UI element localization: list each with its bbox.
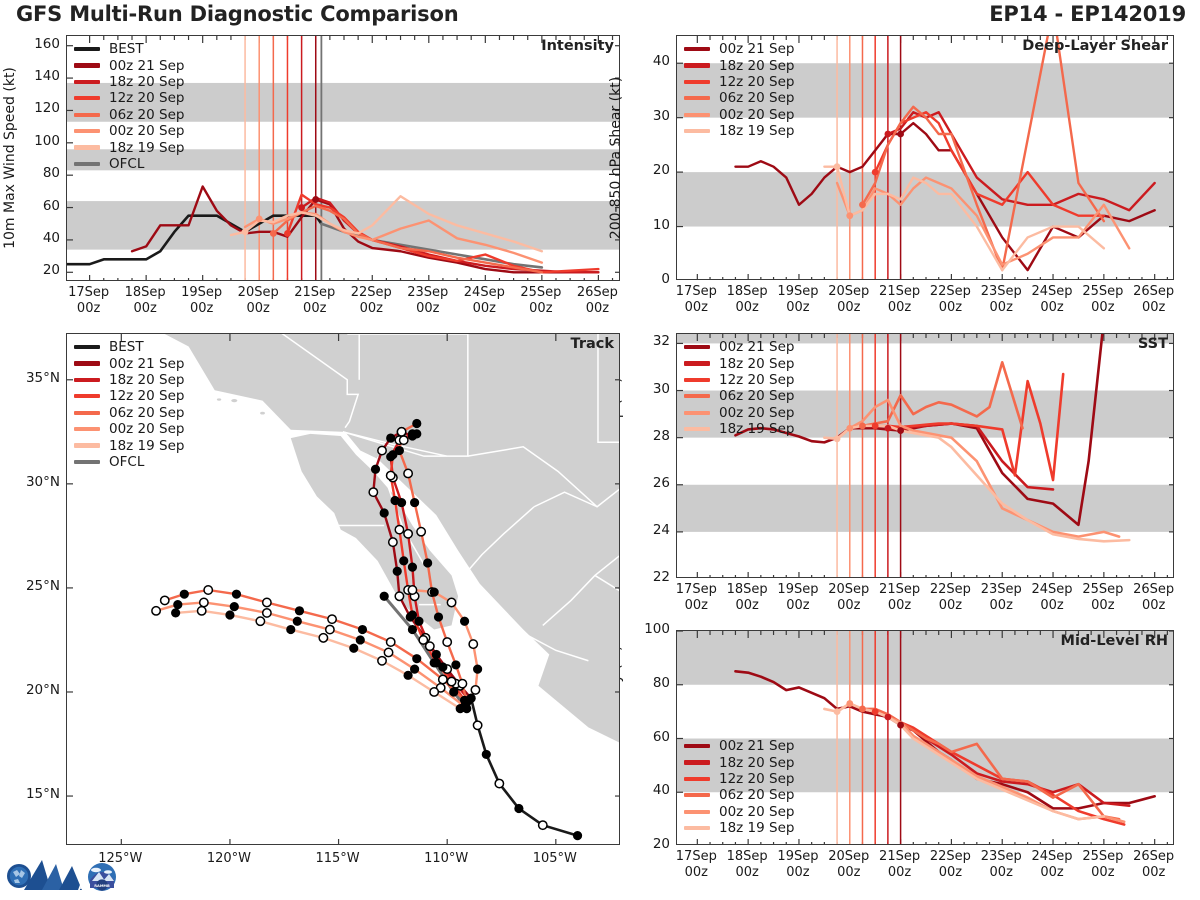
track-point-marker xyxy=(319,634,327,642)
x-tick-hour: 00z xyxy=(285,301,345,317)
track-point-marker xyxy=(452,661,460,669)
init-marker xyxy=(834,435,841,442)
x-tick-date: 26Sep xyxy=(1124,284,1184,300)
legend-label: 06z 20 Sep xyxy=(109,107,184,123)
init-marker xyxy=(872,169,879,176)
legend-swatch xyxy=(74,129,100,133)
x-tick-label: 26Sep00z xyxy=(567,285,627,317)
legend-item[interactable]: 18z 19 Sep xyxy=(684,123,794,139)
panel-sst: SST00z 21 Sep18z 20 Sep12z 20 Sep06z 20 … xyxy=(676,333,1174,578)
track-point-marker xyxy=(473,721,481,729)
legend-track: BEST00z 21 Sep18z 20 Sep12z 20 Sep06z 20… xyxy=(74,339,184,470)
track-point-marker xyxy=(404,530,412,538)
x-tick-date: 26Sep xyxy=(1124,849,1184,865)
track-point-marker xyxy=(391,496,399,504)
track-point-marker xyxy=(395,592,403,600)
legend-swatch xyxy=(684,411,710,415)
init-marker xyxy=(884,425,891,432)
legend-swatch xyxy=(684,378,710,382)
track-point-marker xyxy=(473,665,481,673)
y-tick-label: 80 xyxy=(632,675,670,691)
legend-item[interactable]: 00z 20 Sep xyxy=(74,123,184,139)
x-tick-date: 25Sep xyxy=(511,285,571,301)
legend-label: 12z 20 Sep xyxy=(109,388,184,404)
panel-title-shear: Deep-Layer Shear xyxy=(1022,38,1168,54)
x-tick-label: 18Sep00z xyxy=(115,285,175,317)
legend-item[interactable]: 18z 19 Sep xyxy=(684,820,794,836)
legend-swatch xyxy=(684,345,710,349)
panel-title-track: Track xyxy=(571,336,614,352)
x-tick-label: 17Sep00z xyxy=(59,285,119,317)
legend-item[interactable]: 18z 19 Sep xyxy=(74,437,184,453)
y-tick-label: 22 xyxy=(632,569,670,585)
track-point-marker xyxy=(378,446,386,454)
y-tick-label: 20 xyxy=(632,836,670,852)
legend-label: 18z 20 Sep xyxy=(719,356,794,372)
track-point-marker xyxy=(430,688,438,696)
y-tick-label: 100 xyxy=(632,621,670,637)
legend-label: 18z 19 Sep xyxy=(109,140,184,156)
track-point-marker xyxy=(471,686,479,694)
init-marker xyxy=(897,722,904,729)
legend-swatch xyxy=(684,744,710,748)
legend-swatch xyxy=(74,345,100,349)
y-tick-label: 32 xyxy=(632,333,670,349)
track-point-marker xyxy=(413,419,421,427)
track-point-marker xyxy=(410,665,418,673)
legend-swatch xyxy=(74,443,100,447)
legend-item[interactable]: OFCL xyxy=(74,454,184,470)
init-marker xyxy=(859,422,866,429)
x-tick-date: 22Sep xyxy=(341,285,401,301)
x-tick-label: 19Sep00z xyxy=(172,285,232,317)
legend-item[interactable]: 12z 20 Sep xyxy=(684,771,794,787)
legend-swatch xyxy=(74,394,100,398)
legend-swatch xyxy=(684,793,710,797)
legend-item[interactable]: 12z 20 Sep xyxy=(684,372,794,388)
track-point-marker xyxy=(356,636,364,644)
cira-logo: A RAMMB xyxy=(4,850,128,896)
x-tick-hour: 00z xyxy=(341,301,401,317)
y-tick-label: 160 xyxy=(22,36,60,52)
legend-swatch xyxy=(74,427,100,431)
x-tick-date: 26Sep xyxy=(567,285,627,301)
legend-sst: 00z 21 Sep18z 20 Sep12z 20 Sep06z 20 Sep… xyxy=(684,339,794,437)
track-point-marker xyxy=(369,488,377,496)
legend-item[interactable]: 18z 20 Sep xyxy=(684,355,794,371)
lon-tick-label: 115°W xyxy=(303,851,373,867)
x-tick-label: 26Sep00z xyxy=(1124,284,1184,316)
legend-item[interactable]: 06z 20 Sep xyxy=(684,787,794,803)
lon-tick-label: 110°W xyxy=(411,851,481,867)
x-tick-date: 20Sep xyxy=(228,285,288,301)
legend-label: 00z 21 Sep xyxy=(719,339,794,355)
init-marker xyxy=(846,425,853,432)
rammb-logo-text: RAMMB xyxy=(94,884,110,888)
track-point-marker xyxy=(384,648,392,656)
track-point-marker xyxy=(256,617,264,625)
init-marker xyxy=(897,427,904,434)
lon-tick-label: 120°W xyxy=(194,851,264,867)
track-point-marker xyxy=(226,611,234,619)
track-point-marker xyxy=(432,659,440,667)
track-point-marker xyxy=(295,607,303,615)
legend-swatch xyxy=(74,63,100,67)
track-point-marker xyxy=(458,679,466,687)
y-tick-label: 24 xyxy=(632,522,670,538)
track-point-marker xyxy=(197,607,205,615)
track-point-marker xyxy=(263,598,271,606)
track-point-marker xyxy=(573,831,581,839)
legend-item[interactable]: 00z 21 Sep xyxy=(684,339,794,355)
legend-label: 18z 20 Sep xyxy=(719,58,794,74)
legend-swatch xyxy=(684,361,710,365)
track-point-marker xyxy=(410,498,418,506)
legend-item[interactable]: 12z 20 Sep xyxy=(74,388,184,404)
x-tick-label: 21Sep00z xyxy=(285,285,345,317)
track-point-marker xyxy=(180,590,188,598)
init-marker xyxy=(270,230,277,237)
x-tick-hour: 00z xyxy=(1124,598,1184,614)
track-point-marker xyxy=(469,640,477,648)
track-point-marker xyxy=(430,588,438,596)
x-tick-label: 26Sep00z xyxy=(1124,582,1184,614)
legend-label: 18z 19 Sep xyxy=(719,421,794,437)
legend-label: 00z 21 Sep xyxy=(109,58,184,74)
init-marker xyxy=(298,204,305,211)
legend-label: 06z 20 Sep xyxy=(719,388,794,404)
legend-swatch xyxy=(684,63,710,67)
legend-swatch xyxy=(74,361,100,365)
track-point-marker xyxy=(408,563,416,571)
legend-label: 00z 21 Sep xyxy=(719,738,794,754)
page-title: GFS Multi-Run Diagnostic Comparison xyxy=(16,2,458,26)
legend-swatch xyxy=(74,411,100,415)
legend-label: 18z 20 Sep xyxy=(109,74,184,90)
legend-intensity: BEST00z 21 Sep18z 20 Sep12z 20 Sep06z 20… xyxy=(74,41,184,172)
x-tick-hour: 00z xyxy=(511,301,571,317)
y-tick-label: 60 xyxy=(22,198,60,214)
init-marker xyxy=(834,708,841,715)
track-point-marker xyxy=(293,617,301,625)
legend-item[interactable]: 00z 20 Sep xyxy=(684,405,794,421)
track-point-marker xyxy=(432,650,440,658)
y-tick-label: 120 xyxy=(22,100,60,116)
init-marker xyxy=(859,706,866,713)
legend-item[interactable]: 06z 20 Sep xyxy=(684,388,794,404)
legend-label: OFCL xyxy=(109,156,144,172)
y-tick-label: 20 xyxy=(22,262,60,278)
y-tick-label: 80 xyxy=(22,165,60,181)
track-point-marker xyxy=(413,654,421,662)
x-tick-hour: 00z xyxy=(1124,865,1184,881)
init-marker xyxy=(859,201,866,208)
x-tick-label: 20Sep00z xyxy=(228,285,288,317)
y-tick-label: 26 xyxy=(632,475,670,491)
track-point-marker xyxy=(413,430,421,438)
legend-item[interactable]: 18z 20 Sep xyxy=(74,372,184,388)
legend-label: 06z 20 Sep xyxy=(719,787,794,803)
legend-swatch xyxy=(74,162,100,166)
track-point-marker xyxy=(415,617,423,625)
track-point-marker xyxy=(161,596,169,604)
legend-label: 00z 20 Sep xyxy=(719,804,794,820)
init-marker xyxy=(312,196,319,203)
y-tick-label: 40 xyxy=(22,230,60,246)
init-marker xyxy=(846,700,853,707)
init-marker xyxy=(884,714,891,721)
legend-label: BEST xyxy=(109,41,144,57)
legend-label: 12z 20 Sep xyxy=(719,771,794,787)
panel-rh: Mid-Level RH00z 21 Sep18z 20 Sep12z 20 S… xyxy=(676,630,1174,845)
lat-tick-label: 25°N xyxy=(4,578,60,594)
legend-item[interactable]: 18z 19 Sep xyxy=(684,421,794,437)
init-marker xyxy=(872,708,879,715)
track-point-marker xyxy=(400,436,408,444)
track-point-marker xyxy=(456,704,464,712)
legend-item[interactable]: 18z 20 Sep xyxy=(684,754,794,770)
track-point-marker xyxy=(263,609,271,617)
track-point-marker xyxy=(389,538,397,546)
legend-swatch xyxy=(684,113,710,117)
track-point-marker xyxy=(393,567,401,575)
legend-item[interactable]: 18z 20 Sep xyxy=(74,74,184,90)
track-point-marker xyxy=(350,644,358,652)
panel-title-intensity: Intensity xyxy=(541,38,614,54)
legend-item[interactable]: OFCL xyxy=(74,156,184,172)
legend-label: OFCL xyxy=(109,454,144,470)
track-point-marker xyxy=(482,750,490,758)
legend-item[interactable]: BEST xyxy=(74,339,184,355)
legend-item[interactable]: 00z 21 Sep xyxy=(74,355,184,371)
y-tick-label: 100 xyxy=(22,133,60,149)
legend-label: 18z 19 Sep xyxy=(719,820,794,836)
legend-swatch xyxy=(684,96,710,100)
legend-swatch xyxy=(684,80,710,84)
y-tick-label: 30 xyxy=(632,108,670,124)
legend-item[interactable]: 06z 20 Sep xyxy=(74,107,184,123)
x-tick-hour: 00z xyxy=(228,301,288,317)
x-tick-hour: 00z xyxy=(567,301,627,317)
legend-swatch xyxy=(684,777,710,781)
track-point-marker xyxy=(515,804,523,812)
legend-item[interactable]: 00z 21 Sep xyxy=(74,57,184,73)
legend-item[interactable]: 00z 21 Sep xyxy=(684,738,794,754)
legend-label: 00z 21 Sep xyxy=(109,356,184,372)
legend-swatch xyxy=(74,47,100,51)
legend-swatch xyxy=(684,760,710,764)
init-marker xyxy=(834,163,841,170)
legend-item[interactable]: 00z 20 Sep xyxy=(74,421,184,437)
x-tick-hour: 00z xyxy=(1124,300,1184,316)
x-tick-hour: 00z xyxy=(398,301,458,317)
track-point-marker xyxy=(400,557,408,565)
storm-id-title: EP14 - EP142019 xyxy=(989,2,1186,26)
legend-swatch xyxy=(684,394,710,398)
track-point-marker xyxy=(328,615,336,623)
legend-swatch xyxy=(684,826,710,830)
track-point-marker xyxy=(326,625,334,633)
init-marker xyxy=(872,422,879,429)
track-point-marker xyxy=(387,434,395,442)
y-tick-label: 40 xyxy=(632,782,670,798)
track-point-marker xyxy=(204,586,212,594)
track-point-marker xyxy=(287,625,295,633)
legend-label: 18z 19 Sep xyxy=(719,123,794,139)
y-tick-label: 60 xyxy=(632,729,670,745)
x-tick-date: 17Sep xyxy=(59,285,119,301)
track-point-marker xyxy=(358,625,366,633)
legend-swatch xyxy=(74,460,100,464)
x-tick-label: 23Sep00z xyxy=(398,285,458,317)
init-marker xyxy=(284,230,291,237)
track-point-marker xyxy=(419,636,427,644)
init-marker xyxy=(256,215,263,222)
legend-swatch xyxy=(684,810,710,814)
legend-label: 00z 21 Sep xyxy=(719,41,794,57)
x-tick-date: 24Sep xyxy=(454,285,514,301)
svg-text:A: A xyxy=(78,883,85,893)
legend-swatch xyxy=(74,145,100,149)
legend-label: 00z 20 Sep xyxy=(719,107,794,123)
track-point-marker xyxy=(232,590,240,598)
y-tick-label: 140 xyxy=(22,68,60,84)
init-marker xyxy=(884,131,891,138)
panel-track: TrackBEST00z 21 Sep18z 20 Sep12z 20 Sep0… xyxy=(66,333,620,845)
track-point-marker xyxy=(200,598,208,606)
track-point-marker xyxy=(447,677,455,685)
track-point-marker xyxy=(417,528,425,536)
legend-label: 00z 20 Sep xyxy=(719,405,794,421)
legend-label: 18z 20 Sep xyxy=(719,755,794,771)
x-tick-date: 21Sep xyxy=(285,285,345,301)
y-tick-label: 0 xyxy=(632,271,670,287)
legend-swatch xyxy=(684,47,710,51)
track-point-marker xyxy=(539,821,547,829)
legend-swatch xyxy=(74,378,100,382)
track-point-marker xyxy=(387,471,395,479)
track-point-marker xyxy=(371,465,379,473)
track-point-marker xyxy=(395,446,403,454)
panel-intensity: IntensityBEST00z 21 Sep18z 20 Sep12z 20 … xyxy=(66,35,620,281)
x-tick-label: 24Sep00z xyxy=(454,285,514,317)
lat-tick-label: 35°N xyxy=(4,370,60,386)
legend-label: 12z 20 Sep xyxy=(109,90,184,106)
legend-label: 06z 20 Sep xyxy=(719,90,794,106)
x-tick-label: 22Sep00z xyxy=(341,285,401,317)
x-tick-label: 25Sep00z xyxy=(511,285,571,317)
track-point-marker xyxy=(447,598,455,606)
x-tick-date: 26Sep xyxy=(1124,582,1184,598)
legend-label: BEST xyxy=(109,339,144,355)
y-axis-label-shear: 200-850 hPa Shear (kt) xyxy=(608,76,624,238)
panel-title-sst: SST xyxy=(1138,336,1168,352)
legend-swatch xyxy=(684,427,710,431)
track-point-marker xyxy=(439,675,447,683)
legend-swatch xyxy=(74,96,100,100)
track-point-marker xyxy=(434,613,442,621)
legend-swatch xyxy=(74,80,100,84)
legend-label: 00z 20 Sep xyxy=(109,123,184,139)
track-point-marker xyxy=(408,625,416,633)
legend-item[interactable]: BEST xyxy=(74,41,184,57)
y-tick-label: 10 xyxy=(632,217,670,233)
legend-swatch xyxy=(684,129,710,133)
x-tick-date: 19Sep xyxy=(172,285,232,301)
legend-label: 00z 20 Sep xyxy=(109,421,184,437)
track-point-marker xyxy=(174,600,182,608)
track-point-marker xyxy=(152,607,160,615)
legend-item[interactable]: 00z 21 Sep xyxy=(684,41,794,57)
x-tick-hour: 00z xyxy=(454,301,514,317)
track-point-marker xyxy=(408,611,416,619)
track-point-marker xyxy=(378,657,386,665)
y-tick-label: 28 xyxy=(632,428,670,444)
legend-item[interactable]: 00z 20 Sep xyxy=(684,107,794,123)
track-point-marker xyxy=(171,609,179,617)
legend-label: 18z 20 Sep xyxy=(109,372,184,388)
x-tick-label: 26Sep00z xyxy=(1124,849,1184,881)
track-point-marker xyxy=(408,586,416,594)
track-point-marker xyxy=(404,671,412,679)
x-tick-date: 18Sep xyxy=(115,285,175,301)
lat-tick-label: 20°N xyxy=(4,682,60,698)
legend-label: 12z 20 Sep xyxy=(719,372,794,388)
track-point-marker xyxy=(387,638,395,646)
y-axis-label-intensity: 10m Max Wind Speed (kt) xyxy=(2,67,18,249)
x-tick-hour: 00z xyxy=(172,301,232,317)
track-point-marker xyxy=(460,617,468,625)
lat-tick-label: 15°N xyxy=(4,786,60,802)
track-point-marker xyxy=(230,602,238,610)
x-tick-hour: 00z xyxy=(59,301,119,317)
legend-label: 12z 20 Sep xyxy=(719,74,794,90)
legend-item[interactable]: 00z 20 Sep xyxy=(684,804,794,820)
legend-item[interactable]: 06z 20 Sep xyxy=(684,90,794,106)
lon-tick-label: 105°W xyxy=(520,851,590,867)
y-tick-label: 20 xyxy=(632,162,670,178)
legend-label: 06z 20 Sep xyxy=(109,405,184,421)
track-point-marker xyxy=(380,592,388,600)
track-line xyxy=(471,698,577,835)
legend-item[interactable]: 18z 20 Sep xyxy=(684,57,794,73)
y-tick-label: 30 xyxy=(632,381,670,397)
track-point-marker xyxy=(404,469,412,477)
track-point-marker xyxy=(397,428,405,436)
legend-item[interactable]: 12z 20 Sep xyxy=(74,90,184,106)
init-marker xyxy=(897,131,904,138)
legend-shear: 00z 21 Sep18z 20 Sep12z 20 Sep06z 20 Sep… xyxy=(684,41,794,139)
track-point-marker xyxy=(443,638,451,646)
panel-shear: Deep-Layer Shear00z 21 Sep18z 20 Sep12z … xyxy=(676,35,1174,280)
track-point-marker xyxy=(395,525,403,533)
legend-item[interactable]: 06z 20 Sep xyxy=(74,405,184,421)
legend-rh: 00z 21 Sep18z 20 Sep12z 20 Sep06z 20 Sep… xyxy=(684,738,794,836)
track-point-marker xyxy=(380,509,388,517)
track-point-marker xyxy=(423,559,431,567)
lat-tick-label: 30°N xyxy=(4,474,60,490)
legend-item[interactable]: 18z 19 Sep xyxy=(74,139,184,155)
legend-swatch xyxy=(74,113,100,117)
legend-item[interactable]: 12z 20 Sep xyxy=(684,74,794,90)
legend-label: 18z 19 Sep xyxy=(109,438,184,454)
track-point-marker xyxy=(495,779,503,787)
x-tick-date: 23Sep xyxy=(398,285,458,301)
init-marker xyxy=(242,228,249,235)
init-marker xyxy=(846,212,853,219)
y-tick-label: 40 xyxy=(632,53,670,69)
panel-title-rh: Mid-Level RH xyxy=(1061,633,1168,649)
